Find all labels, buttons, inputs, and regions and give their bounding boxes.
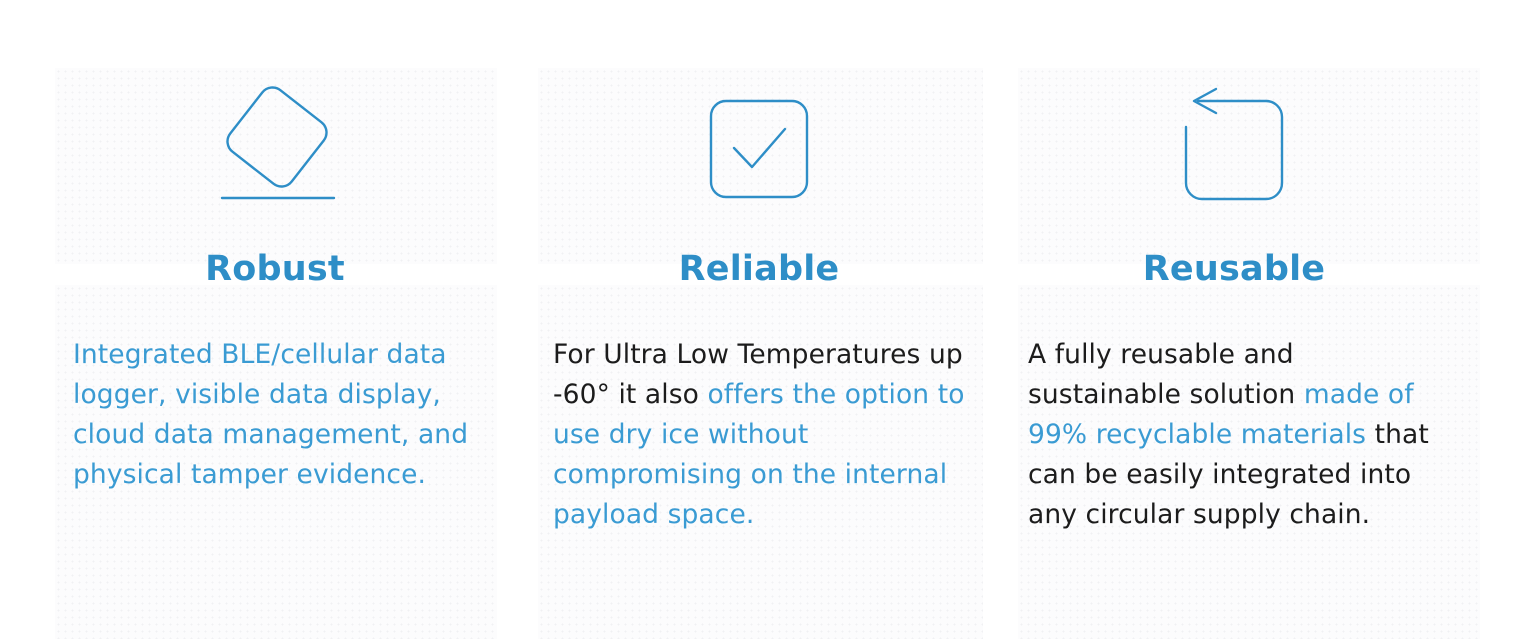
body-span-dark-lead: A fully reusable and sustainable solutio…	[1028, 339, 1304, 410]
feature-column-reliable: Reliable For Ultra Low Temperatures up -…	[539, 0, 979, 639]
feature-heading-reusable: Reusable	[1014, 252, 1454, 287]
tilted-rounded-square-on-line-icon	[200, 74, 350, 224]
feature-columns-board: Robust Integrated BLE/cellular data logg…	[0, 0, 1536, 639]
check-in-rounded-square-icon	[703, 93, 815, 205]
feature-column-robust: Robust Integrated BLE/cellular data logg…	[55, 0, 495, 639]
body-span-blue: Integrated BLE/cellular data logger, vis…	[73, 339, 468, 490]
feature-body-robust: Integrated BLE/cellular data logger, vis…	[55, 335, 483, 495]
icon-container-robust	[55, 58, 495, 240]
feature-column-reusable: Reusable A fully reusable and sustainabl…	[1014, 0, 1454, 639]
icon-container-reusable	[1014, 58, 1454, 240]
feature-body-reusable: A fully reusable and sustainable solutio…	[1014, 335, 1438, 535]
feature-heading-reliable: Reliable	[539, 252, 979, 287]
feature-heading-robust: Robust	[55, 252, 495, 287]
feature-body-reliable: For Ultra Low Temperatures up -60° it al…	[539, 335, 968, 535]
icon-container-reliable	[539, 58, 979, 240]
recycle-loop-arrow-icon	[1172, 87, 1296, 211]
